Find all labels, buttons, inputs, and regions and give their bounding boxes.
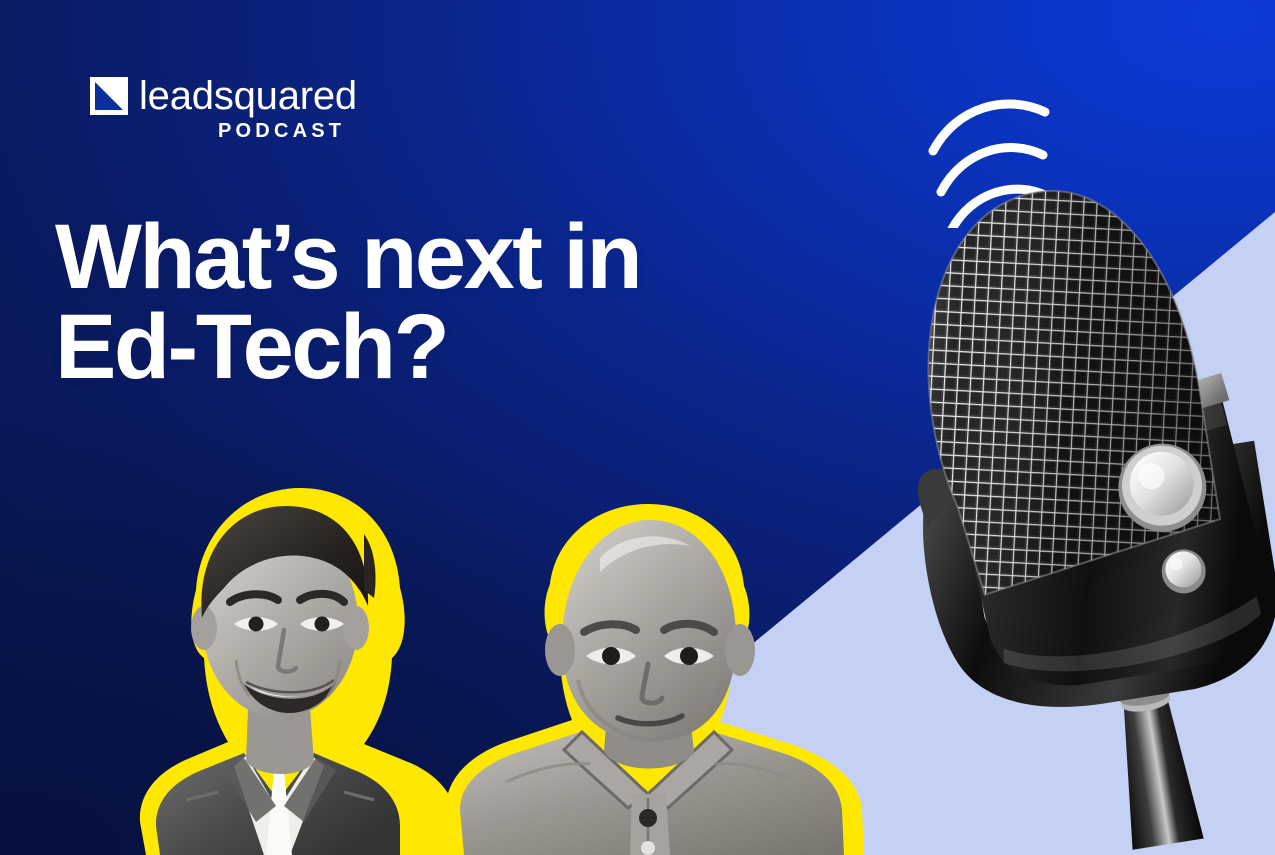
studio-microphone-icon bbox=[860, 150, 1275, 855]
podcast-cover-poster: leadsquared PODCAST What’s next in Ed-Te… bbox=[0, 0, 1275, 855]
guest-photo-right bbox=[432, 492, 902, 855]
brand-logo[interactable]: leadsquared PODCAST bbox=[90, 76, 357, 141]
brand-sublabel: PODCAST bbox=[218, 121, 345, 141]
guest-photo-left bbox=[78, 470, 478, 855]
brand-wordmark: leadsquared bbox=[139, 76, 357, 116]
logo-row: leadsquared bbox=[90, 76, 357, 116]
leadsquared-square-mark-icon bbox=[90, 77, 128, 115]
page-title: What’s next in Ed-Tech? bbox=[55, 212, 640, 392]
